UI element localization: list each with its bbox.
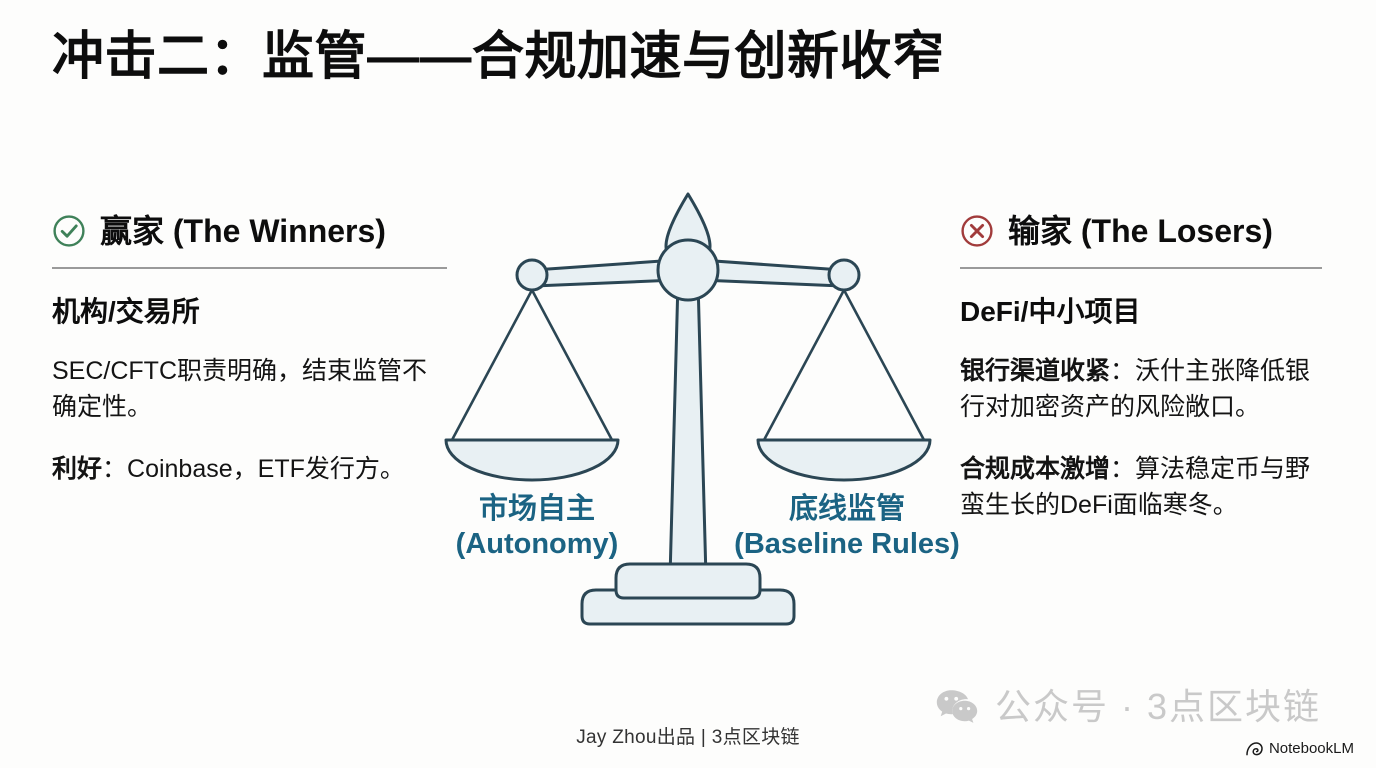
page-title: 冲击二：监管——合规加速与创新收窄 — [52, 28, 945, 88]
check-circle-icon — [52, 214, 86, 248]
winners-paragraph-1: SEC/CFTC职责明确，结束监管不确定性。 — [52, 353, 447, 426]
losers-subheading: DeFi/中小项目 — [960, 295, 1322, 329]
losers-paragraph-1-lead: 银行渠道收紧 — [960, 357, 1110, 385]
losers-column: 输家 (The Losers) DeFi/中小项目 银行渠道收紧：沃什主张降低银… — [960, 208, 1322, 524]
notebooklm-icon — [1246, 741, 1263, 756]
scale-label-right-en: (Baseline Rules) — [718, 527, 976, 562]
losers-heading: 输家 (The Losers) — [1008, 215, 1273, 247]
winners-heading: 赢家 (The Winners) — [100, 215, 386, 247]
losers-paragraph-2: 合规成本激增：算法稳定币与野蛮生长的DeFi面临寒冬。 — [960, 451, 1322, 524]
x-circle-icon — [960, 214, 994, 248]
scale-label-right: 底线监管 (Baseline Rules) — [718, 492, 976, 563]
losers-header: 输家 (The Losers) — [960, 208, 1322, 254]
winners-header: 赢家 (The Winners) — [52, 208, 447, 254]
losers-paragraph-2-lead: 合规成本激增 — [960, 455, 1110, 483]
slide-canvas: 冲击二：监管——合规加速与创新收窄 赢家 (The Winners) 机构/交易… — [0, 0, 1376, 768]
scale-label-right-cn: 底线监管 — [789, 493, 905, 525]
losers-divider — [960, 267, 1322, 269]
scale-label-left-cn: 市场自主 — [479, 493, 595, 525]
wechat-watermark: 公众号 · 3点区块链 — [935, 688, 1321, 726]
winners-subheading: 机构/交易所 — [52, 295, 447, 329]
wechat-icon — [935, 688, 979, 726]
scale-label-left-en: (Autonomy) — [415, 527, 659, 562]
scale-label-left: 市场自主 (Autonomy) — [415, 492, 659, 563]
watermark-text: 公众号 · 3点区块链 — [995, 689, 1321, 725]
winners-paragraph-2-lead: 利好 — [52, 455, 102, 483]
winners-paragraph-1-text: SEC/CFTC职责明确，结束监管不确定性。 — [52, 357, 427, 421]
winners-paragraph-2: 利好：Coinbase，ETF发行方。 — [52, 451, 447, 487]
winners-divider — [52, 267, 447, 269]
notebooklm-badge: NotebookLM — [1246, 740, 1354, 757]
winners-column: 赢家 (The Winners) 机构/交易所 SEC/CFTC职责明确，结束监… — [52, 208, 447, 487]
notebooklm-label: NotebookLM — [1269, 740, 1354, 757]
winners-paragraph-2-text: ：Coinbase，ETF发行方。 — [102, 455, 405, 483]
losers-paragraph-1: 银行渠道收紧：沃什主张降低银行对加密资产的风险敞口。 — [960, 353, 1322, 426]
